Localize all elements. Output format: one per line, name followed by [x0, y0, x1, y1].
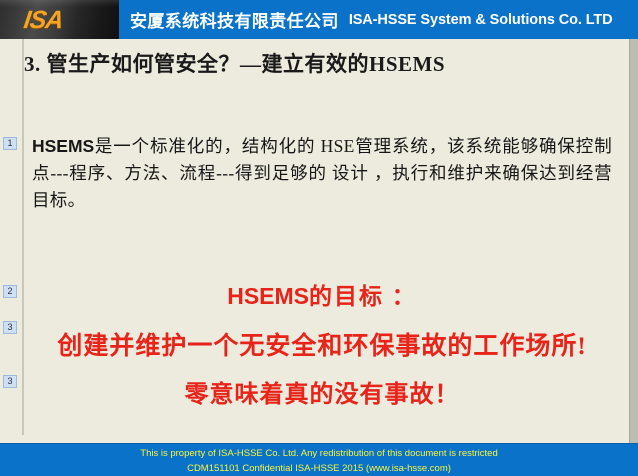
- isa-logo-plate: ISA: [0, 0, 119, 39]
- slide-footer: This is property of ISA-HSSE Co. Ltd. An…: [0, 443, 638, 476]
- body-paragraph-text: 是一个标准化的，结构化的 HSE管理系统，该系统能够确保控制点---程序、方法、…: [32, 136, 612, 210]
- right-edge-bar: [629, 39, 638, 443]
- body-paragraph-lead: HSEMS: [32, 136, 94, 156]
- margin-marker[interactable]: 2: [3, 285, 17, 298]
- footer-copyright-line: This is property of ISA-HSSE Co. Ltd. An…: [0, 446, 638, 461]
- slide-header-bar: ISA 安厦系统科技有限责任公司 ISA-HSSE System & Solut…: [0, 0, 638, 39]
- goal-heading-cn: 的目标 ：: [309, 284, 417, 309]
- margin-marker[interactable]: 3: [3, 321, 17, 334]
- header-company-name-cn: 安厦系统科技有限责任公司: [130, 7, 339, 32]
- goal-statement-secondary: 零意味着真的没有事故！: [24, 380, 620, 411]
- header-company-name: 安厦系统科技有限责任公司 ISA-HSSE System & Solutions…: [130, 0, 613, 39]
- margin-marker[interactable]: 1: [3, 137, 17, 150]
- header-company-name-en: ISA-HSSE System & Solutions Co. LTD: [349, 12, 613, 28]
- isa-logo-icon: ISA: [22, 8, 64, 32]
- body-paragraph: HSEMS是一个标准化的，结构化的 HSE管理系统，该系统能够确保控制点---程…: [32, 133, 612, 214]
- page-title: 3. 管生产如何管安全？—建立有效的HSEMS: [24, 48, 445, 78]
- goal-statement-primary: 创建并维护一个无安全和环保事故的工作场所!: [24, 331, 620, 363]
- footer-document-line: CDM151101 Confidential ISA-HSSE 2015 (ww…: [0, 461, 638, 476]
- margin-marker[interactable]: 3: [3, 375, 17, 388]
- goal-block: HSEMS的目标 ： 创建并维护一个无安全和环保事故的工作场所! 零意味着真的没…: [24, 281, 620, 411]
- presentation-slide: ISA 安厦系统科技有限责任公司 ISA-HSSE System & Solut…: [0, 0, 638, 476]
- goal-heading-en: HSEMS: [227, 283, 309, 309]
- goal-heading: HSEMS的目标 ：: [24, 281, 620, 312]
